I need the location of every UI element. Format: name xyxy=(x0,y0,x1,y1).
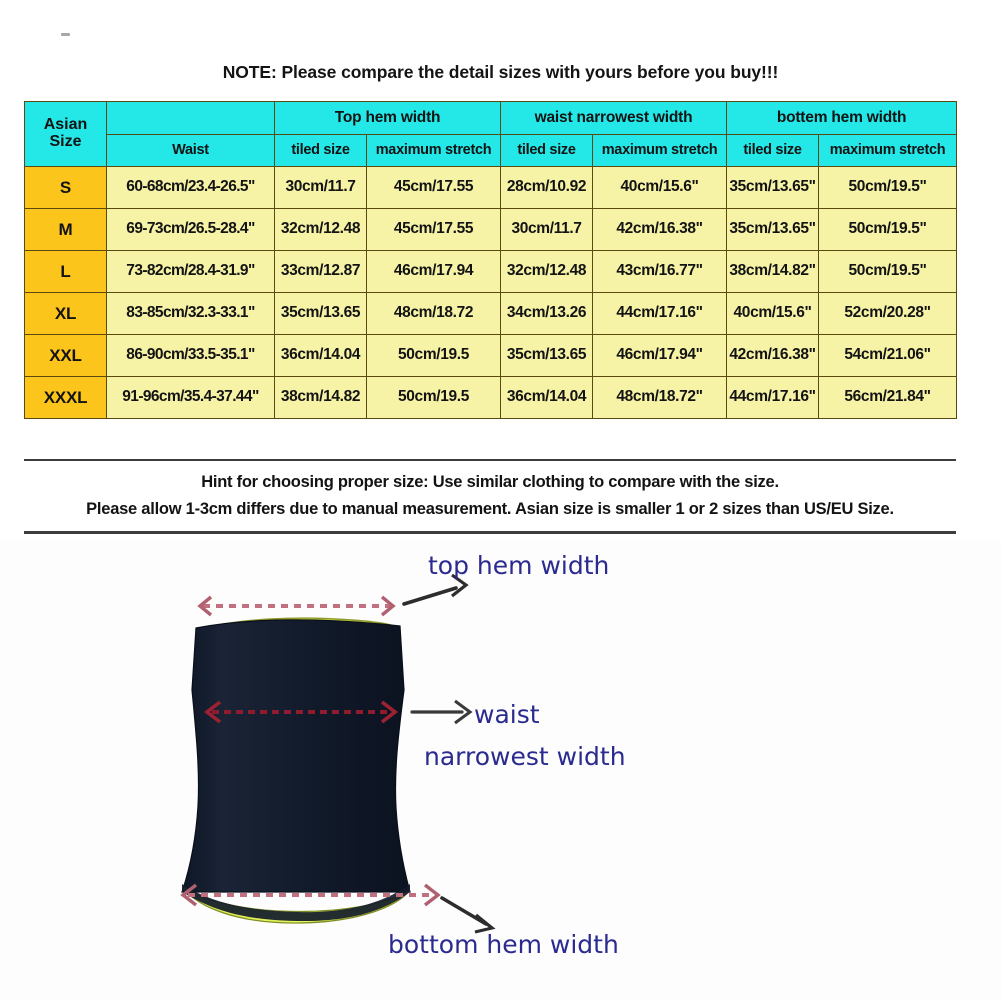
cell-waist: 83-85cm/32.3-33.1" xyxy=(107,293,275,335)
cell-waist: 69-73cm/26.5-28.4" xyxy=(107,209,275,251)
cell-top-max: 45cm/17.55 xyxy=(367,167,501,209)
header-top-maximum-stretch: maximum stretch xyxy=(367,135,501,167)
header-asian-size-line1: Asian xyxy=(25,117,106,134)
header-asian-size-line2: Size xyxy=(25,134,106,151)
table-row: M 69-73cm/26.5-28.4" 32cm/12.48 45cm/17.… xyxy=(25,209,957,251)
cell-waist-tiled: 32cm/12.48 xyxy=(501,251,593,293)
cell-top-tiled: 38cm/14.82 xyxy=(275,377,367,419)
size-chart-table: Asian Size Top hem width waist narrowest… xyxy=(24,101,957,419)
cell-top-tiled: 36cm/14.04 xyxy=(275,335,367,377)
header-waist: Waist xyxy=(107,135,275,167)
table-row: XXL 86-90cm/33.5-35.1" 36cm/14.04 50cm/1… xyxy=(25,335,957,377)
cell-top-tiled: 32cm/12.48 xyxy=(275,209,367,251)
cell-waist: 73-82cm/28.4-31.9" xyxy=(107,251,275,293)
cell-top-max: 50cm/19.5 xyxy=(367,335,501,377)
cell-waist-max: 48cm/18.72" xyxy=(593,377,727,419)
cell-waist-max: 44cm/17.16" xyxy=(593,293,727,335)
cell-waist: 86-90cm/33.5-35.1" xyxy=(107,335,275,377)
cell-bottom-tiled: 40cm/15.6" xyxy=(727,293,819,335)
cell-waist-tiled: 30cm/11.7 xyxy=(501,209,593,251)
note-text: NOTE: Please compare the detail sizes wi… xyxy=(0,62,1001,83)
header-row-subs: Waist tiled size maximum stretch tiled s… xyxy=(25,135,957,167)
top-hem-measure-arrow xyxy=(200,597,393,615)
table-row: S 60-68cm/23.4-26.5" 30cm/11.7 45cm/17.5… xyxy=(25,167,957,209)
cell-waist-max: 40cm/15.6" xyxy=(593,167,727,209)
table-row: XXXL 91-96cm/35.4-37.44" 38cm/14.82 50cm… xyxy=(25,377,957,419)
hint-box: Hint for choosing proper size: Use simil… xyxy=(24,459,956,534)
cell-bottom-max: 56cm/21.84" xyxy=(819,377,957,419)
table-row: XL 83-85cm/32.3-33.1" 35cm/13.65 48cm/18… xyxy=(25,293,957,335)
cell-bottom-tiled: 42cm/16.38" xyxy=(727,335,819,377)
cell-bottom-max: 52cm/20.28" xyxy=(819,293,957,335)
cell-waist-max: 46cm/17.94" xyxy=(593,335,727,377)
cell-size: S xyxy=(25,167,107,209)
cell-size: XL xyxy=(25,293,107,335)
cell-waist-tiled: 28cm/10.92 xyxy=(501,167,593,209)
cell-waist: 60-68cm/23.4-26.5" xyxy=(107,167,275,209)
label-top-hem-width: top hem width xyxy=(428,551,609,580)
cell-top-tiled: 35cm/13.65 xyxy=(275,293,367,335)
cell-top-tiled: 33cm/12.87 xyxy=(275,251,367,293)
hint-line-2: Please allow 1-3cm differs due to manual… xyxy=(24,496,956,523)
waist-leader-line xyxy=(412,701,470,723)
header-waist-maximum-stretch: maximum stretch xyxy=(593,135,727,167)
cell-waist-tiled: 35cm/13.65 xyxy=(501,335,593,377)
cell-top-max: 46cm/17.94 xyxy=(367,251,501,293)
cell-size: L xyxy=(25,251,107,293)
header-waist-group-blank xyxy=(107,102,275,135)
header-bottom-tiled-size: tiled size xyxy=(727,135,819,167)
cell-waist-max: 42cm/16.38" xyxy=(593,209,727,251)
cell-bottom-tiled: 44cm/17.16" xyxy=(727,377,819,419)
cell-waist-tiled: 36cm/14.04 xyxy=(501,377,593,419)
cell-top-max: 45cm/17.55 xyxy=(367,209,501,251)
cell-bottom-tiled: 35cm/13.65" xyxy=(727,209,819,251)
cell-bottom-max: 50cm/19.5" xyxy=(819,167,957,209)
cell-bottom-max: 50cm/19.5" xyxy=(819,209,957,251)
cell-waist-tiled: 34cm/13.26 xyxy=(501,293,593,335)
cell-bottom-tiled: 38cm/14.82" xyxy=(727,251,819,293)
label-bottom-hem-width: bottom hem width xyxy=(388,930,619,959)
table-header: Asian Size Top hem width waist narrowest… xyxy=(25,102,957,167)
cell-size: XXXL xyxy=(25,377,107,419)
cell-bottom-max: 50cm/19.5" xyxy=(819,251,957,293)
cell-bottom-max: 54cm/21.06" xyxy=(819,335,957,377)
header-waist-tiled-size: tiled size xyxy=(501,135,593,167)
cell-top-max: 50cm/19.5 xyxy=(367,377,501,419)
header-waist-narrowest-width: waist narrowest width xyxy=(501,102,727,135)
cell-size: XXL xyxy=(25,335,107,377)
header-top-tiled-size: tiled size xyxy=(275,135,367,167)
cell-waist-max: 43cm/16.77" xyxy=(593,251,727,293)
header-asian-size: Asian Size xyxy=(25,102,107,167)
cell-waist: 91-96cm/35.4-37.44" xyxy=(107,377,275,419)
header-top-hem-width: Top hem width xyxy=(275,102,501,135)
size-chart-table-container: Asian Size Top hem width waist narrowest… xyxy=(24,101,956,419)
cell-top-max: 48cm/18.72 xyxy=(367,293,501,335)
bottom-hem-leader-line xyxy=(442,898,492,932)
cell-size: M xyxy=(25,209,107,251)
cell-bottom-tiled: 35cm/13.65" xyxy=(727,167,819,209)
cell-top-tiled: 30cm/11.7 xyxy=(275,167,367,209)
image-artifact-speck xyxy=(61,33,70,36)
table-body: S 60-68cm/23.4-26.5" 30cm/11.7 45cm/17.5… xyxy=(25,167,957,419)
header-bottem-hem-width: bottem hem width xyxy=(727,102,957,135)
hint-line-1: Hint for choosing proper size: Use simil… xyxy=(24,469,956,496)
garment-body xyxy=(182,620,410,892)
header-bottom-maximum-stretch: maximum stretch xyxy=(819,135,957,167)
header-row-groups: Asian Size Top hem width waist narrowest… xyxy=(25,102,957,135)
table-row: L 73-82cm/28.4-31.9" 33cm/12.87 46cm/17.… xyxy=(25,251,957,293)
label-narrowest-width: narrowest width xyxy=(424,742,626,771)
label-waist: waist xyxy=(474,700,540,729)
